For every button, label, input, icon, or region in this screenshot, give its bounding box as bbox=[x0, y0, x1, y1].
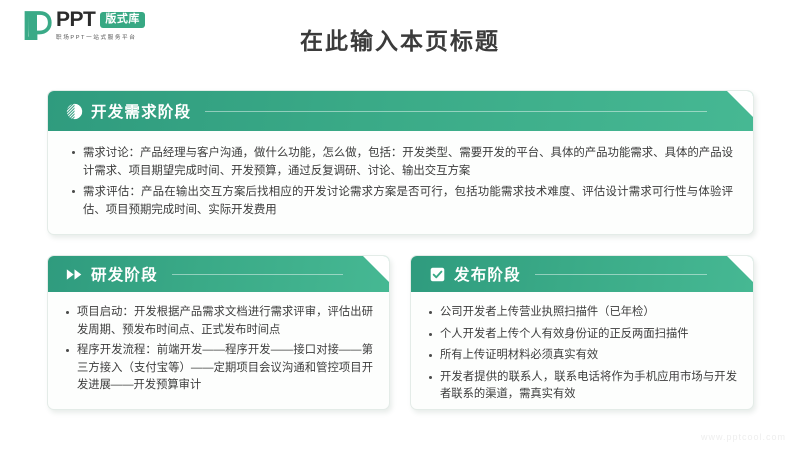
header-rule bbox=[172, 274, 343, 275]
card-header: 研发阶段 bbox=[48, 256, 389, 292]
card-title: 开发需求阶段 bbox=[91, 100, 191, 122]
list-item: 需求评估：产品在输出交互方案后找相应的开发讨论需求方案是否可行，包括功能需求技术… bbox=[70, 183, 733, 219]
card-body: 项目启动：开发根据产品需求文档进行需求评审，评估出研发周期、预发布时间点、正式发… bbox=[48, 292, 389, 408]
card-title: 研发阶段 bbox=[91, 263, 158, 285]
corner-notch-icon bbox=[727, 256, 753, 282]
list-item: 需求讨论：产品经理与客户沟通，做什么功能，怎么做，包括：开发类型、需要开发的平台… bbox=[70, 144, 733, 180]
header-rule bbox=[535, 274, 707, 275]
fast-forward-icon bbox=[66, 266, 83, 283]
bullet-list: 项目启动：开发根据产品需求文档进行需求评审，评估出研发周期、预发布时间点、正式发… bbox=[64, 304, 373, 395]
card-release-stage: 发布阶段 公司开发者上传营业执照扫描件（已年检） 个人开发者上传个人有效身份证的… bbox=[410, 255, 754, 410]
checkbox-checked-icon bbox=[429, 266, 446, 283]
card-body: 需求讨论：产品经理与客户沟通，做什么功能，怎么做，包括：开发类型、需要开发的平台… bbox=[48, 131, 753, 232]
site-watermark: www.pptcool.com bbox=[701, 432, 786, 442]
card-requirement-stage: 开发需求阶段 需求讨论：产品经理与客户沟通，做什么功能，怎么做，包括：开发类型、… bbox=[47, 90, 754, 235]
corner-notch-icon bbox=[363, 256, 389, 282]
list-item: 项目启动：开发根据产品需求文档进行需求评审，评估出研发周期、预发布时间点、正式发… bbox=[64, 304, 373, 339]
card-header: 开发需求阶段 bbox=[48, 91, 753, 131]
page-title: 在此输入本页标题 bbox=[0, 22, 800, 56]
corner-notch-icon bbox=[727, 91, 753, 117]
list-item: 开发者提供的联系人，联系电话将作为手机应用市场与开发者联系的渠道，需真实有效 bbox=[427, 369, 737, 404]
bullet-list: 公司开发者上传营业执照扫描件（已年检） 个人开发者上传个人有效身份证的正反两面扫… bbox=[427, 304, 737, 404]
list-item: 公司开发者上传营业执照扫描件（已年检） bbox=[427, 304, 737, 322]
list-item: 个人开发者上传个人有效身份证的正反两面扫描件 bbox=[427, 326, 737, 344]
card-header: 发布阶段 bbox=[411, 256, 753, 292]
list-item: 所有上传证明材料必须真实有效 bbox=[427, 347, 737, 365]
header-rule bbox=[205, 111, 707, 112]
bullet-list: 需求讨论：产品经理与客户沟通，做什么功能，怎么做，包括：开发类型、需要开发的平台… bbox=[70, 144, 733, 219]
card-body: 公司开发者上传营业执照扫描件（已年检） 个人开发者上传个人有效身份证的正反两面扫… bbox=[411, 292, 753, 410]
card-title: 发布阶段 bbox=[454, 263, 521, 285]
pie-chart-circle-icon bbox=[66, 103, 83, 120]
card-development-stage: 研发阶段 项目启动：开发根据产品需求文档进行需求评审，评估出研发周期、预发布时间… bbox=[47, 255, 390, 410]
list-item: 程序开发流程：前端开发——程序开发——接口对接——第三方接入（支付宝等）——定期… bbox=[64, 342, 373, 395]
